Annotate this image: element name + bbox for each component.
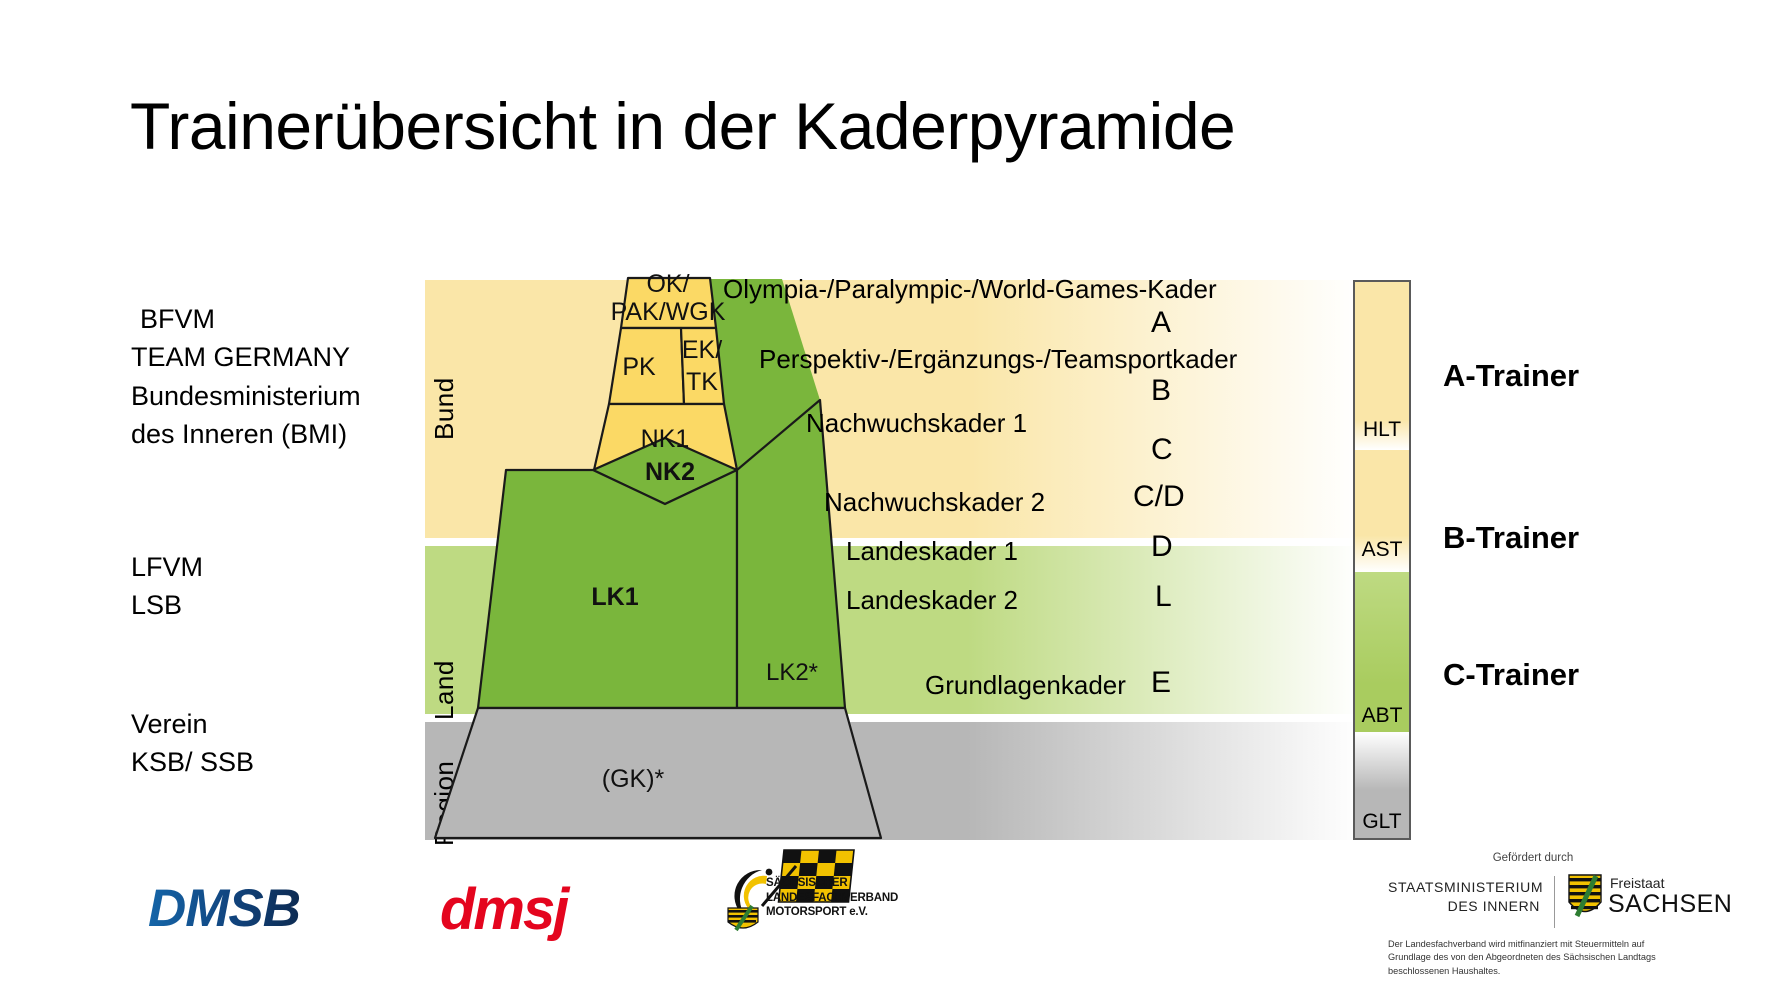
staatsministerium-line1: STAATSMINISTERIUM (1388, 878, 1540, 897)
segment-gk-label: (GK)* (602, 765, 665, 793)
slide-root: Trainerübersicht in der Kaderpyramide BF… (0, 0, 1778, 1000)
left-label-bmi-line1: Bundesministerium (131, 377, 361, 415)
colorbar-segment-ast: AST (1355, 450, 1409, 572)
left-label-lsb: LSB (131, 586, 203, 624)
segment-lk1-label: LK1 (591, 583, 638, 611)
motorsport-logo-line1: SÄCHSISCHER (766, 876, 898, 891)
trainer-level-b: B-Trainer (1443, 520, 1579, 556)
staatsministerium-label: STAATSMINISTERIUM DES INNERN (1388, 878, 1540, 916)
colorbar-label-glt: GLT (1355, 810, 1409, 834)
segment-ok-label-line1: OK/ (646, 270, 689, 298)
left-label-lfvm: LFVM (131, 548, 203, 586)
training-stage-colorbar: HLT AST ABT GLT (1353, 280, 1411, 840)
colorbar-segment-abt: ABT (1355, 572, 1409, 732)
cadre-label-e: Grundlagenkader (925, 670, 1126, 701)
sachsen-label: SACHSEN (1608, 890, 1732, 919)
cadre-label-a: Olympia-/Paralympic-/World-Games-Kader (723, 274, 1217, 305)
cadre-label-l: Landeskader 2 (846, 585, 1018, 616)
saechsischer-landesfachverband-motorsport-logo: SÄCHSISCHER LANDESFACHVERBAND MOTORSPORT… (722, 848, 902, 948)
logo-divider (1554, 876, 1555, 928)
trainer-level-c: C-Trainer (1443, 657, 1579, 693)
staatsministerium-line2: DES INNERN (1388, 897, 1540, 916)
dmsj-logo: dmsj (440, 876, 567, 943)
segment-nk2-label: NK2 (645, 458, 695, 486)
cadre-grade-d: D (1151, 530, 1173, 564)
sachsen-coat-of-arms-icon (1568, 874, 1602, 922)
colorbar-segment-hlt: HLT (1355, 282, 1409, 450)
segment-ek-label-line2: TK (686, 368, 718, 396)
kader-pyramid-diagram: Bund Land Region (425, 280, 1360, 840)
segment-nk1-label: NK1 (641, 425, 690, 453)
left-label-ksb-ssb: KSB/ SSB (131, 743, 254, 781)
motorsport-logo-line3: MOTORSPORT e.V. (766, 905, 898, 920)
colorbar-label-hlt: HLT (1355, 418, 1409, 442)
trainer-level-a: A-Trainer (1443, 358, 1579, 394)
funding-fineprint: Der Landesfachverband wird mitfinanziert… (1388, 938, 1678, 978)
left-label-bmi-line2: des Inneren (BMI) (131, 415, 361, 453)
left-label-team-germany: TEAM GERMANY (131, 338, 361, 376)
motorsport-logo-line2: LANDESFACHVERBAND (766, 891, 898, 906)
cadre-label-cd: Nachwuchskader 2 (824, 487, 1045, 518)
segment-pk-label: PK (622, 353, 656, 381)
segment-ok-label-line2: PAK/WGK (611, 298, 726, 326)
freistaat-sachsen-funding-logo: Gefördert durch STAATSMINISTERIUM DES IN… (1388, 852, 1678, 976)
motorsport-logo-text: SÄCHSISCHER LANDESFACHVERBAND MOTORSPORT… (766, 876, 898, 920)
cadre-grade-cd: C/D (1133, 480, 1185, 514)
freistaat-label: Freistaat (1610, 875, 1664, 891)
left-label-group-region: Verein KSB/ SSB (131, 705, 254, 782)
cadre-grade-e: E (1151, 666, 1171, 700)
colorbar-label-abt: ABT (1355, 704, 1409, 728)
segment-lk2-label: LK2* (766, 659, 818, 686)
left-label-bfvm: BFVM (131, 300, 361, 338)
dmsb-logo: DMSB (148, 878, 300, 939)
segment-ek-label-line1: EK/ (682, 336, 722, 364)
cadre-grade-b: B (1151, 374, 1171, 408)
left-label-group-land: LFVM LSB (131, 548, 203, 625)
cadre-grade-c: C (1151, 433, 1173, 467)
left-label-verein: Verein (131, 705, 254, 743)
cadre-label-d: Landeskader 1 (846, 536, 1018, 567)
colorbar-label-ast: AST (1355, 538, 1409, 562)
cadre-label-c: Nachwuchskader 1 (806, 408, 1027, 439)
left-label-group-bund: BFVM TEAM GERMANY Bundesministerium des … (131, 300, 361, 453)
page-title: Trainerübersicht in der Kaderpyramide (130, 92, 1235, 161)
cadre-grade-a: A (1151, 306, 1171, 340)
cadre-label-b: Perspektiv-/Ergänzungs-/Teamsportkader (759, 344, 1237, 375)
gefoerdert-durch-label: Gefördert durch (1388, 852, 1678, 864)
cadre-grade-l: L (1155, 580, 1172, 614)
colorbar-segment-glt: GLT (1355, 732, 1409, 838)
